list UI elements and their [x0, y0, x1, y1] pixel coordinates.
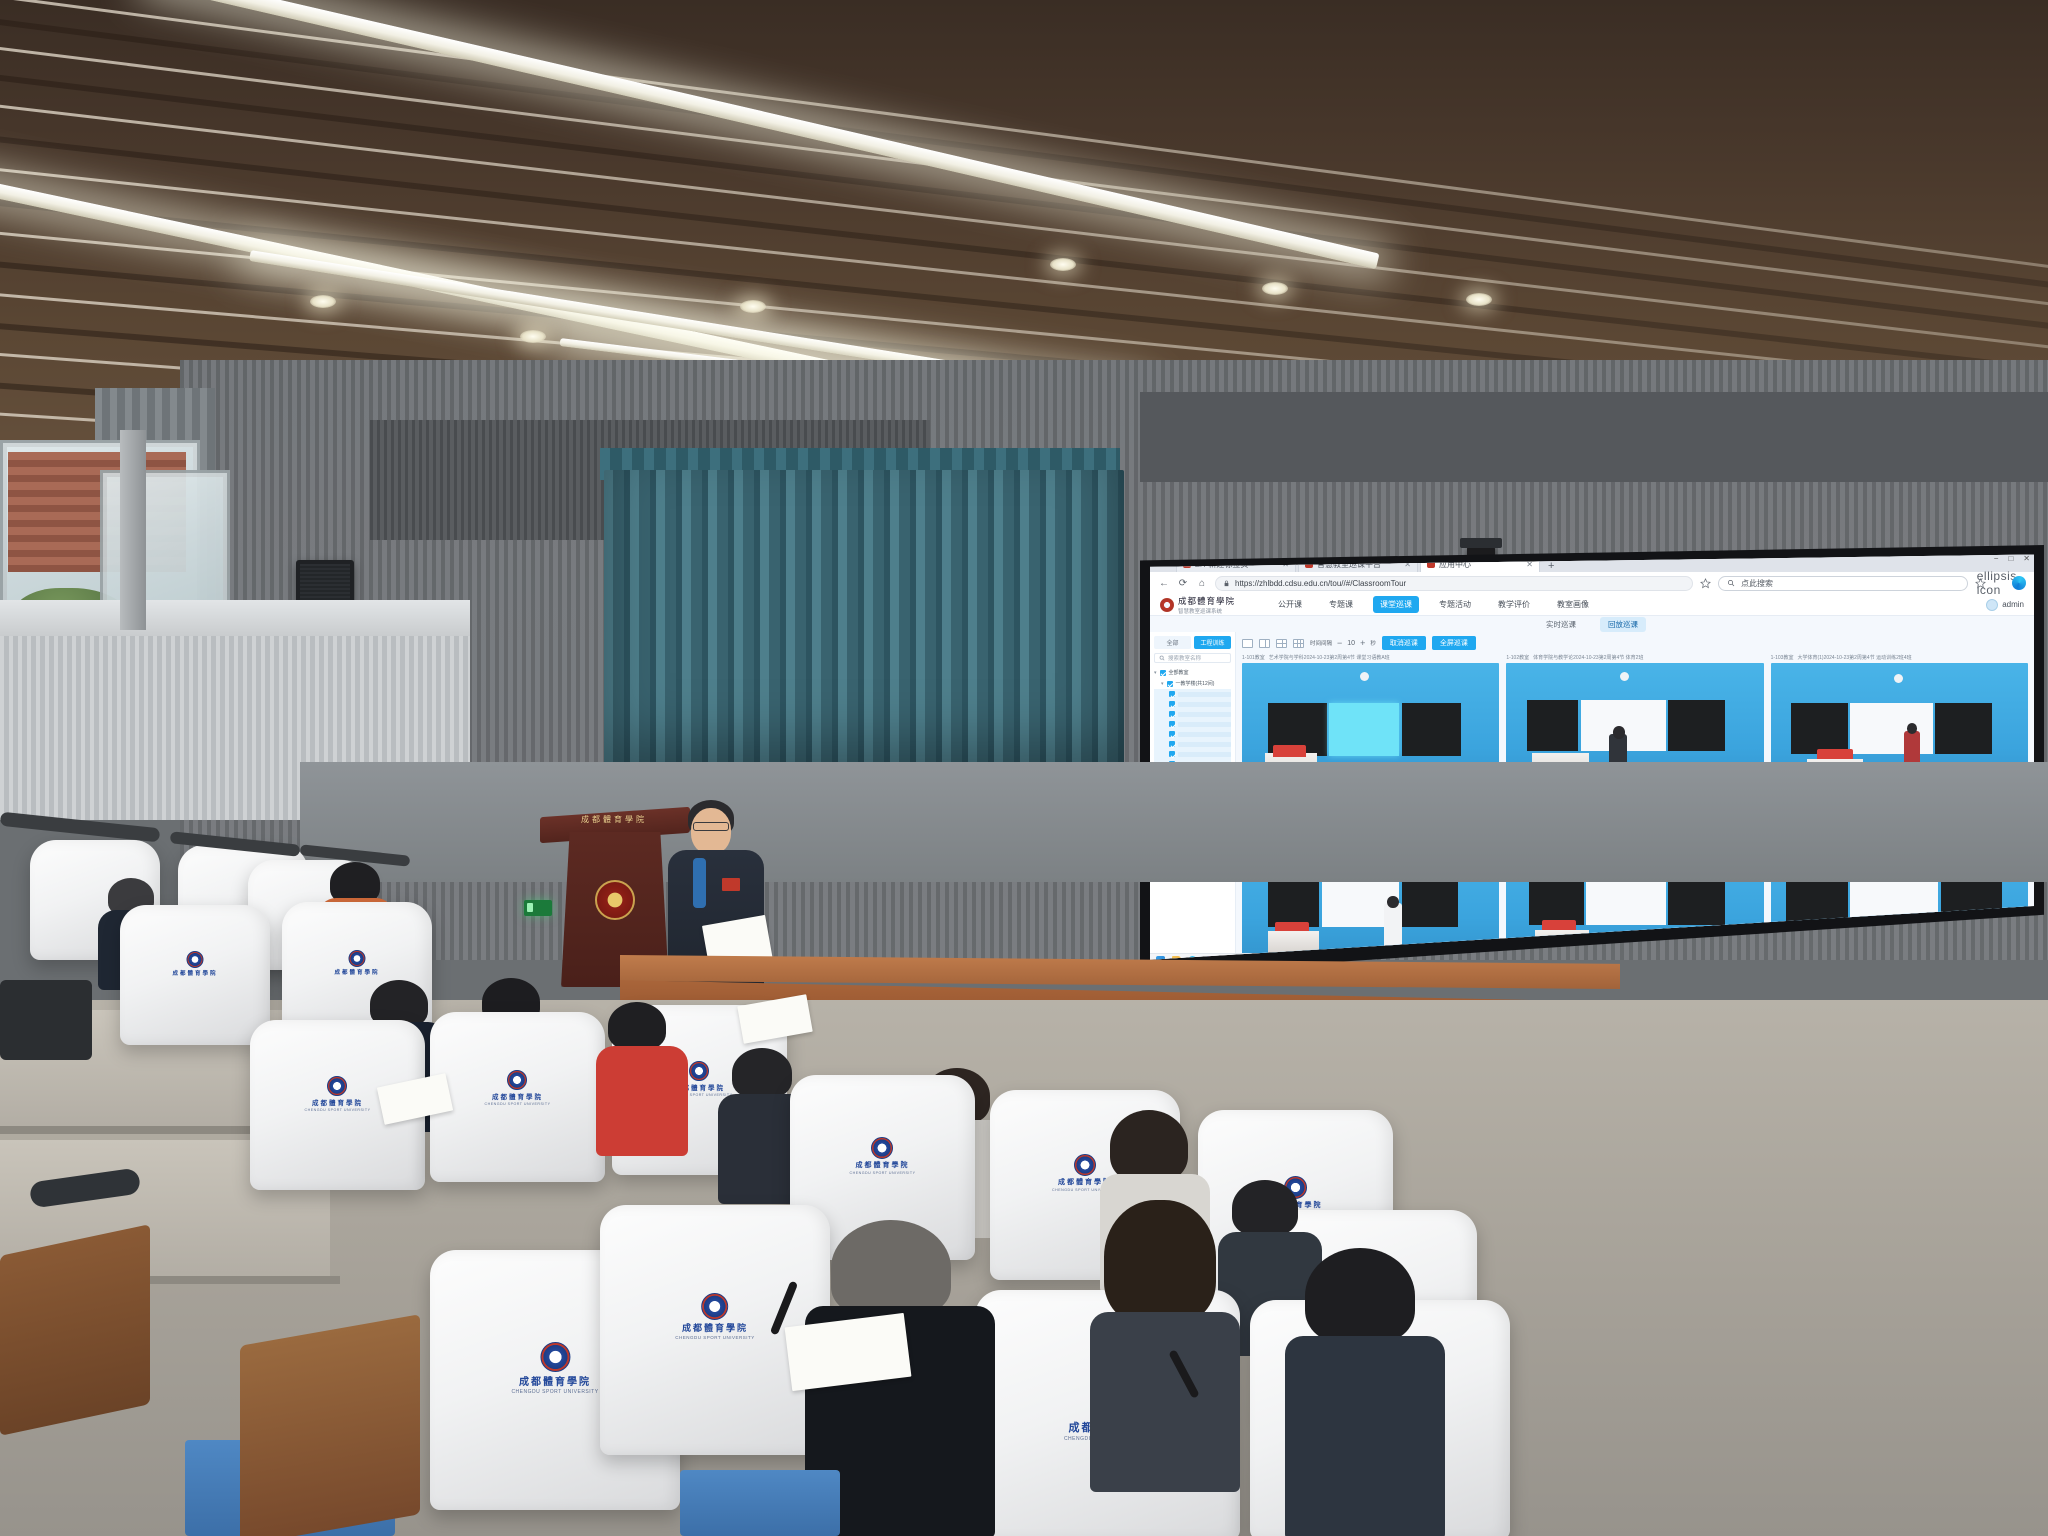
chair: 成都體育學院 [120, 905, 270, 1045]
tile-room: 1-102教室 [1506, 654, 1529, 661]
browser-window[interactable]: ZH-新建标签页 ✕ 智慧教室巡课平台 ✕ 应用中心 ✕ + − □ ✕ [1150, 552, 2034, 966]
microphone [693, 858, 706, 908]
wall-acoustic-panel [1140, 392, 2048, 482]
tour-toolbar[interactable]: 时间间隔 − 10 + 秒 取消巡课 全屏巡课 [1242, 636, 2028, 650]
star-icon[interactable] [1700, 578, 1711, 589]
close-window-icon[interactable]: ✕ [2023, 554, 2030, 563]
stage-curtain [604, 470, 1124, 775]
tree-node-room[interactable] [1154, 739, 1231, 749]
ellipsis-icon[interactable]: ellipsis-icon [1993, 577, 2005, 589]
ceiling-downlight [1050, 258, 1076, 271]
sidebar-search-placeholder: 搜索教室名称 [1168, 654, 1201, 662]
nav-item-topic-class[interactable]: 专题课 [1322, 596, 1360, 613]
fullscreen-tour-button[interactable]: 全屏巡课 [1432, 636, 1476, 650]
interval-increment-button[interactable]: + [1360, 638, 1365, 648]
tree-node-room[interactable] [1154, 699, 1231, 709]
nav-item-topic-activity[interactable]: 专题活动 [1432, 596, 1478, 613]
interval-label: 时间间隔 [1310, 639, 1332, 647]
tree-label [1178, 692, 1231, 697]
app-brand: 成都體育學院 智慧教室巡课系统 [1160, 595, 1235, 615]
maximize-icon[interactable]: □ [2008, 554, 2013, 563]
ceiling-downlight [1466, 293, 1492, 306]
subtab-playback-tour[interactable]: 回放巡课 [1600, 617, 1646, 632]
tree-node-room[interactable] [1154, 729, 1231, 739]
user-menu[interactable]: admin [1986, 599, 2024, 611]
camera-mount [1460, 538, 1502, 548]
presenter-head [691, 808, 731, 854]
search-placeholder: 点此搜索 [1741, 578, 1773, 589]
interval-stepper[interactable]: 时间间隔 − 10 + 秒 [1310, 638, 1376, 648]
tile-caption: 1-102教室 体育学院与教学论2024-10-23第2周第4节 体育2班 [1506, 654, 1763, 661]
tree-node-root[interactable]: ▾ 全部教室 [1154, 667, 1231, 678]
tree-label: 全部教室 [1169, 669, 1189, 676]
chair: 成都體育學院CHENGDU SPORT UNIVERSITY [430, 1012, 605, 1182]
tree-node-room[interactable] [1154, 719, 1231, 729]
seat-cushion [680, 1470, 840, 1536]
layout-2-split-button[interactable] [1259, 639, 1270, 648]
avatar [1986, 599, 1998, 611]
tree-label: 一教学楼(共12间) [1176, 680, 1215, 687]
layout-4-split-button[interactable] [1276, 639, 1287, 648]
glasses-icon [693, 822, 729, 831]
tree-node-room[interactable] [1154, 689, 1231, 699]
tile-room: 1-101教室 [1242, 654, 1265, 661]
chevron-down-icon[interactable]: ▾ [1154, 670, 1157, 676]
audience-member-foreground [1285, 1248, 1445, 1536]
checkbox[interactable] [1167, 681, 1173, 687]
checkbox[interactable] [1169, 711, 1175, 717]
app-subtabs[interactable]: 实时巡课 回放巡课 [1150, 616, 2034, 632]
chair-frame [0, 1224, 150, 1436]
tree-label [1178, 742, 1231, 747]
chair-armrest [0, 980, 92, 1060]
ceiling-downlight [520, 330, 546, 343]
tree-label [1178, 702, 1231, 707]
projection-screen[interactable]: ZH-新建标签页 ✕ 智慧教室巡课平台 ✕ 应用中心 ✕ + − □ ✕ [1150, 552, 2034, 966]
chevron-down-icon[interactable]: ▾ [1161, 681, 1164, 687]
tree-label [1178, 732, 1231, 737]
tree-node-room[interactable] [1154, 749, 1231, 759]
search-icon [1727, 579, 1735, 587]
ceiling-downlight [740, 300, 766, 313]
sidebar-tabs[interactable]: 全部 工程训练 [1154, 636, 1231, 649]
exit-sign [524, 900, 552, 916]
tree-label [1178, 752, 1231, 757]
back-icon[interactable]: ← [1158, 577, 1170, 589]
checkbox[interactable] [1169, 701, 1175, 707]
checkbox[interactable] [1160, 670, 1166, 676]
minimize-icon[interactable]: − [1994, 554, 1999, 563]
nav-item-classroom-tour[interactable]: 课堂巡课 [1373, 596, 1419, 613]
podium-seal-icon [595, 880, 635, 920]
checkbox[interactable] [1169, 721, 1175, 727]
chair-frame [240, 1314, 420, 1536]
interval-unit: 秒 [1370, 639, 1376, 647]
tile-caption: 1-103教室 大学体育(1)2024-10-23第2周第4节 运动训练2班4班 [1771, 654, 2028, 661]
interval-value[interactable]: 10 [1347, 640, 1355, 647]
brand-subtitle: 智慧教室巡课系统 [1178, 607, 1235, 615]
checkbox[interactable] [1169, 751, 1175, 757]
audience-member-foreground [1090, 1200, 1240, 1490]
ceiling-downlight [1262, 282, 1288, 295]
podium-university-name: 成都體育學院 [581, 814, 647, 825]
tree-node-building[interactable]: ▾ 一教学楼(共12间) [1154, 678, 1231, 689]
tile-course: 大学体育(1)2024-10-23第2周第4节 运动训练2班4班 [1797, 654, 1911, 661]
refresh-icon[interactable]: ⟳ [1177, 577, 1189, 589]
layout-6-split-button[interactable] [1293, 639, 1304, 648]
new-tab-button[interactable]: + [1542, 560, 1560, 572]
app-header: 成都體育學院 智慧教室巡课系统 公开课 专题课 课堂巡课 专题活动 教学评价 教… [1150, 594, 2034, 616]
sidebar-search-input[interactable]: 搜索教室名称 [1154, 653, 1231, 663]
sidebar-tab-all[interactable]: 全部 [1154, 636, 1191, 649]
tree-label [1178, 712, 1231, 717]
username: admin [2002, 600, 2024, 609]
subtab-live-tour[interactable]: 实时巡课 [1538, 617, 1584, 632]
nav-item-teaching-evaluation[interactable]: 教学评价 [1491, 596, 1537, 613]
app-nav[interactable]: 公开课 专题课 课堂巡课 专题活动 教学评价 教室画像 [1271, 596, 1596, 613]
checkbox[interactable] [1169, 691, 1175, 697]
tree-node-room[interactable] [1154, 709, 1231, 719]
tree-label [1178, 722, 1231, 727]
browser-toolbar[interactable]: ← ⟳ ⌂ https://zhlbdd.cdsu.edu.cn/tou//#/… [1150, 572, 2034, 594]
cancel-tour-button[interactable]: 取消巡课 [1382, 636, 1426, 650]
interval-decrement-button[interactable]: − [1337, 638, 1342, 648]
checkbox[interactable] [1169, 731, 1175, 737]
url-text: https://zhlbdd.cdsu.edu.cn/tou//#/Classr… [1235, 579, 1406, 588]
address-bar[interactable]: https://zhlbdd.cdsu.edu.cn/tou//#/Classr… [1215, 576, 1693, 591]
window-controls[interactable]: − □ ✕ [1994, 554, 2030, 563]
university-seal-icon [1160, 598, 1174, 612]
search-input[interactable]: 点此搜索 [1718, 576, 1968, 591]
nav-item-public-class[interactable]: 公开课 [1271, 596, 1309, 613]
brand-name: 成都體育學院 [1178, 595, 1235, 607]
home-icon[interactable]: ⌂ [1196, 577, 1208, 589]
nav-item-classroom-profile[interactable]: 教室画像 [1550, 596, 1596, 613]
audience-member [596, 1002, 688, 1152]
tile-room: 1-103教室 [1771, 654, 1794, 661]
checkbox[interactable] [1169, 741, 1175, 747]
pillar [120, 430, 146, 630]
tile-caption: 1-101教室 艺术学院与学科2024-10-23第2周第4节 课堂习语教A班 [1242, 654, 1499, 661]
window-sill-top [0, 600, 470, 636]
lock-icon [1223, 580, 1230, 587]
tile-course: 艺术学院与学科2024-10-23第2周第4节 课堂习语教A班 [1269, 654, 1390, 661]
search-icon [1159, 655, 1165, 661]
edge-copilot-icon[interactable] [2012, 576, 2026, 590]
ceiling-downlight [310, 295, 336, 308]
sidebar-tab-training[interactable]: 工程训练 [1194, 636, 1231, 649]
presenter-badge [722, 878, 740, 891]
lecture-hall-photo: ZH-新建标签页 ✕ 智慧教室巡课平台 ✕ 应用中心 ✕ + − □ ✕ [0, 0, 2048, 1536]
tile-course: 体育学院与教学论2024-10-23第2周第4节 体育2班 [1533, 654, 1643, 661]
layout-1-split-button[interactable] [1242, 639, 1253, 648]
